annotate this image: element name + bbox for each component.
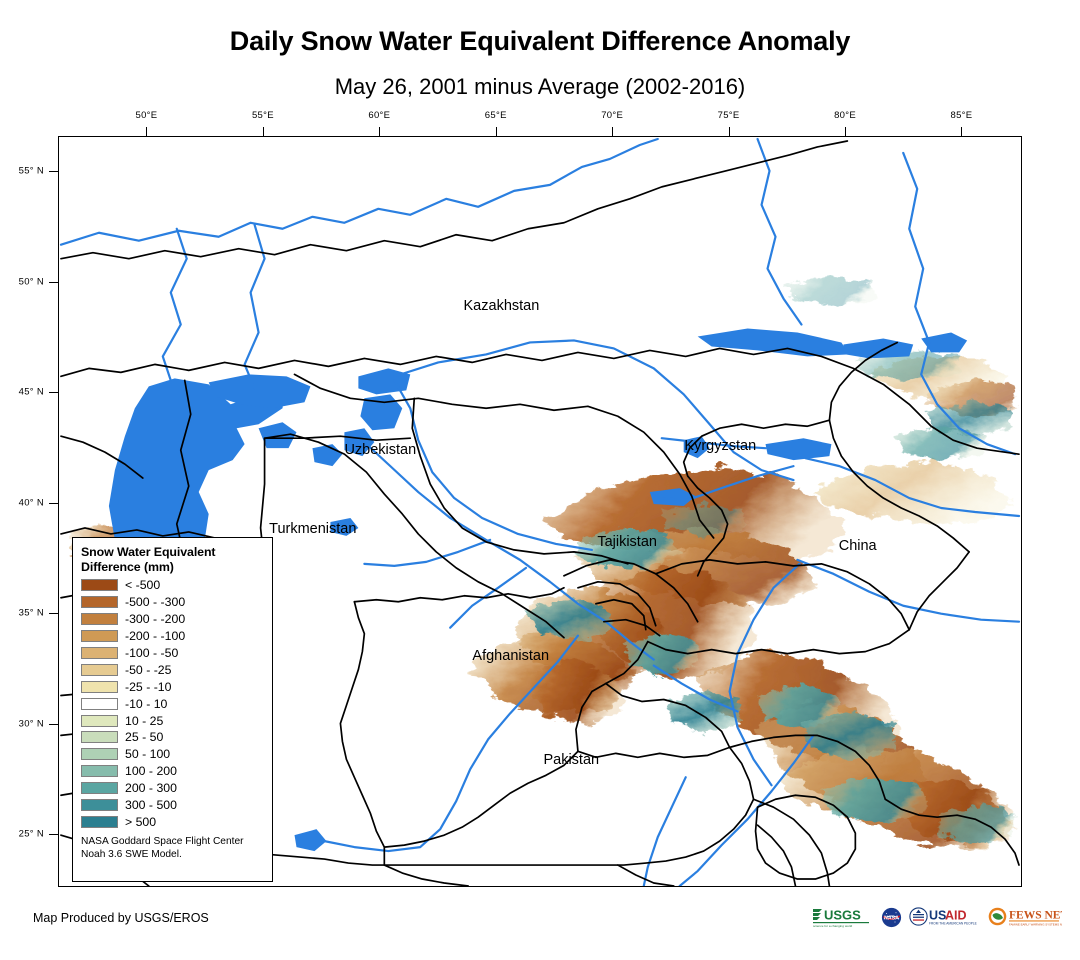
country-label-uzbekistan: Uzbekistan <box>344 442 416 458</box>
legend-row: 300 - 500 <box>81 797 264 814</box>
legend-swatch <box>81 731 118 743</box>
legend-label: -25 - -10 <box>125 681 171 693</box>
legend-swatch <box>81 596 118 608</box>
lat-label: 30° N <box>19 718 44 729</box>
lat-tick <box>49 392 58 393</box>
lon-tick <box>146 127 147 136</box>
country-label-afghanistan: Afghanistan <box>472 648 549 664</box>
legend-row: < -500 <box>81 577 264 594</box>
legend-swatch <box>81 613 118 625</box>
legend-label: > 500 <box>125 816 156 828</box>
legend-swatch <box>81 681 118 693</box>
legend-row: 100 - 200 <box>81 763 264 780</box>
country-label-kyrgyzstan: Kyrgyzstan <box>684 438 756 454</box>
legend-label: -100 - -50 <box>125 647 178 659</box>
legend-swatch <box>81 765 118 777</box>
legend-row: -10 - 10 <box>81 695 264 712</box>
page-subtitle: May 26, 2001 minus Average (2002-2016) <box>0 74 1080 100</box>
lat-tick <box>49 613 58 614</box>
legend-title-line1: Snow Water Equivalent <box>81 545 264 560</box>
legend-label: 200 - 300 <box>125 782 177 794</box>
legend-swatch <box>81 647 118 659</box>
legend-row: 200 - 300 <box>81 780 264 797</box>
legend-title-line2: Difference (mm) <box>81 560 264 575</box>
legend-footer: NASA Goddard Space Flight Center Noah 3.… <box>81 836 264 861</box>
lat-tick <box>49 724 58 725</box>
legend-row: 10 - 25 <box>81 712 264 729</box>
legend-row: > 500 <box>81 813 264 830</box>
legend-label: < -500 <box>125 579 160 591</box>
legend-label: 10 - 25 <box>125 715 163 727</box>
svg-text:NASA: NASA <box>884 915 899 921</box>
legend-row: -25 - -10 <box>81 678 264 695</box>
svg-text:science for a changing world: science for a changing world <box>813 924 852 928</box>
lat-label: 50° N <box>19 276 44 287</box>
nasa-logo[interactable]: NASA <box>881 906 902 929</box>
legend-label: 50 - 100 <box>125 748 170 760</box>
svg-text:USGS: USGS <box>824 908 861 923</box>
country-label-china: China <box>839 538 877 554</box>
page-title: Daily Snow Water Equivalent Difference A… <box>0 26 1080 57</box>
lat-tick <box>49 171 58 172</box>
country-label-tajikistan: Tajikistan <box>597 534 657 550</box>
lon-label: 55°E <box>252 110 274 121</box>
legend-row: -50 - -25 <box>81 661 264 678</box>
agency-logos: USGS science for a changing world NASA <box>812 905 1062 929</box>
lat-label: 55° N <box>19 166 44 177</box>
legend-footer-line1: NASA Goddard Space Flight Center <box>81 836 264 848</box>
lat-label: 35° N <box>19 608 44 619</box>
lon-tick <box>612 127 613 136</box>
lon-tick <box>379 127 380 136</box>
lon-label: 60°E <box>368 110 390 121</box>
legend-row: -200 - -100 <box>81 628 264 645</box>
lat-label: 25° N <box>19 828 44 839</box>
legend-swatch <box>81 715 118 727</box>
svg-text:FROM THE AMERICAN PEOPLE: FROM THE AMERICAN PEOPLE <box>929 921 977 925</box>
legend-row: 50 - 100 <box>81 746 264 763</box>
fewsnet-logo[interactable]: FEWS NET FAMINE EARLY WARNING SYSTEMS NE… <box>988 906 1062 929</box>
lat-tick <box>49 834 58 835</box>
legend-row: -300 - -200 <box>81 611 264 628</box>
legend-class-rows: < -500-500 - -300-300 - -200-200 - -100-… <box>81 577 264 830</box>
lon-tick <box>961 127 962 136</box>
lon-label: 65°E <box>485 110 507 121</box>
map-legend[interactable]: Snow Water Equivalent Difference (mm) < … <box>72 537 273 882</box>
legend-swatch <box>81 782 118 794</box>
lon-label: 75°E <box>718 110 740 121</box>
lon-label: 70°E <box>601 110 623 121</box>
legend-label: 300 - 500 <box>125 799 177 811</box>
lat-tick <box>49 503 58 504</box>
legend-row: -100 - -50 <box>81 645 264 662</box>
svg-text:FEWS NET: FEWS NET <box>1009 909 1062 921</box>
legend-swatch <box>81 748 118 760</box>
legend-row: 25 - 50 <box>81 729 264 746</box>
legend-swatch <box>81 630 118 642</box>
svg-text:FAMINE EARLY WARNING SYSTEMS N: FAMINE EARLY WARNING SYSTEMS NETWORK <box>1009 922 1062 926</box>
legend-swatch <box>81 579 118 591</box>
legend-title: Snow Water Equivalent Difference (mm) <box>81 545 264 574</box>
lon-tick <box>496 127 497 136</box>
legend-label: 100 - 200 <box>125 765 177 777</box>
legend-label: -10 - 10 <box>125 698 167 710</box>
lon-label: 50°E <box>136 110 158 121</box>
usaid-logo[interactable]: US AID FROM THE AMERICAN PEOPLE <box>909 906 981 929</box>
legend-swatch <box>81 799 118 811</box>
country-label-turkmenistan: Turkmenistan <box>269 521 356 537</box>
legend-swatch <box>81 664 118 676</box>
country-label-kazakhstan: Kazakhstan <box>464 298 540 314</box>
legend-label: -500 - -300 <box>125 596 185 608</box>
legend-row: -500 - -300 <box>81 594 264 611</box>
usgs-logo[interactable]: USGS science for a changing world <box>812 906 874 929</box>
lon-tick <box>263 127 264 136</box>
country-label-pakistan: Pakistan <box>543 752 599 768</box>
legend-label: 25 - 50 <box>125 731 163 743</box>
lon-label: 80°E <box>834 110 856 121</box>
lat-label: 45° N <box>19 387 44 398</box>
legend-label: -300 - -200 <box>125 613 185 625</box>
lon-tick <box>729 127 730 136</box>
lon-tick <box>845 127 846 136</box>
legend-swatch <box>81 698 118 710</box>
legend-footer-line2: Noah 3.6 SWE Model. <box>81 849 264 861</box>
lon-label: 85°E <box>951 110 973 121</box>
lat-label: 40° N <box>19 497 44 508</box>
legend-swatch <box>81 816 118 828</box>
legend-label: -50 - -25 <box>125 664 171 676</box>
map-credit: Map Produced by USGS/EROS <box>33 911 209 925</box>
legend-label: -200 - -100 <box>125 630 185 642</box>
svg-text:AID: AID <box>945 908 967 922</box>
lat-tick <box>49 282 58 283</box>
svg-text:US: US <box>929 908 946 922</box>
